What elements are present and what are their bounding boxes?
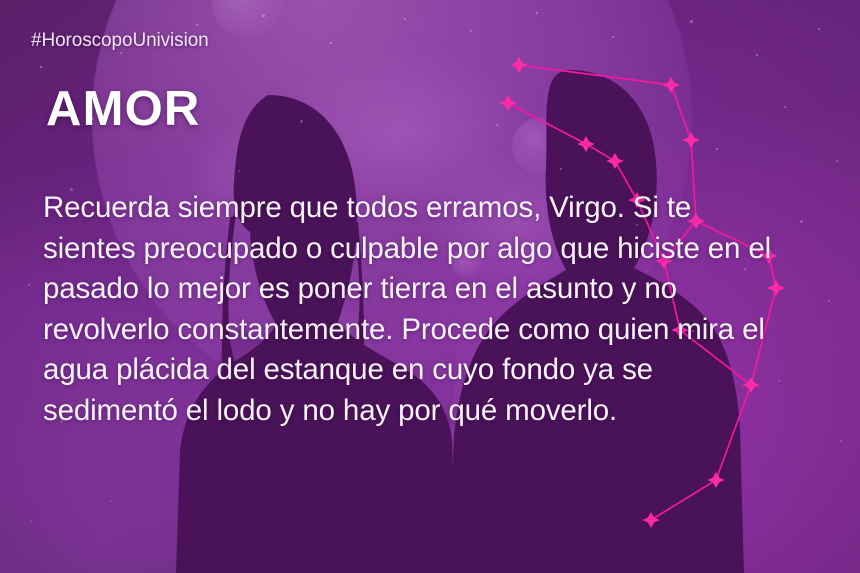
horoscope-card: #HoroscopoUnivision AMOR Recuerda siempr… [0,0,860,573]
horoscope-body-text: Recuerda siempre que todos erramos, Virg… [43,188,788,431]
hashtag-label: #HoroscopoUnivision [31,30,209,52]
page-title: AMOR [46,85,201,134]
